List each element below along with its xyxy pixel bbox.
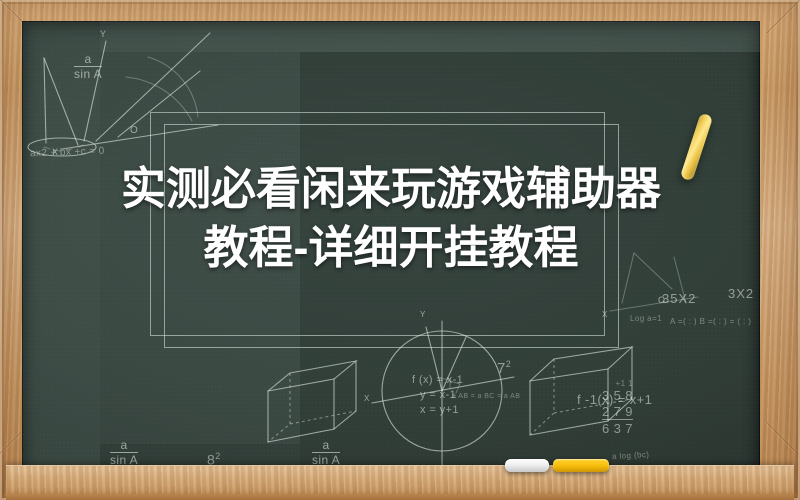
board-overlay-top bbox=[100, 21, 760, 52]
chalk-ledge-lip bbox=[6, 494, 794, 500]
page-title: 实测必看闲来玩游戏辅助器 教程-详细开挂教程 bbox=[22, 160, 760, 277]
poster-canvas: Y X O X O bbox=[0, 0, 800, 500]
headline-line-1: 实测必看闲来玩游戏辅助器 bbox=[22, 160, 760, 219]
headline-line-2: 教程-详细开挂教程 bbox=[22, 219, 760, 278]
yellow-chalk-piece[interactable] bbox=[553, 459, 609, 472]
board-eraser[interactable] bbox=[505, 459, 549, 472]
chalk-ledge bbox=[6, 465, 794, 496]
